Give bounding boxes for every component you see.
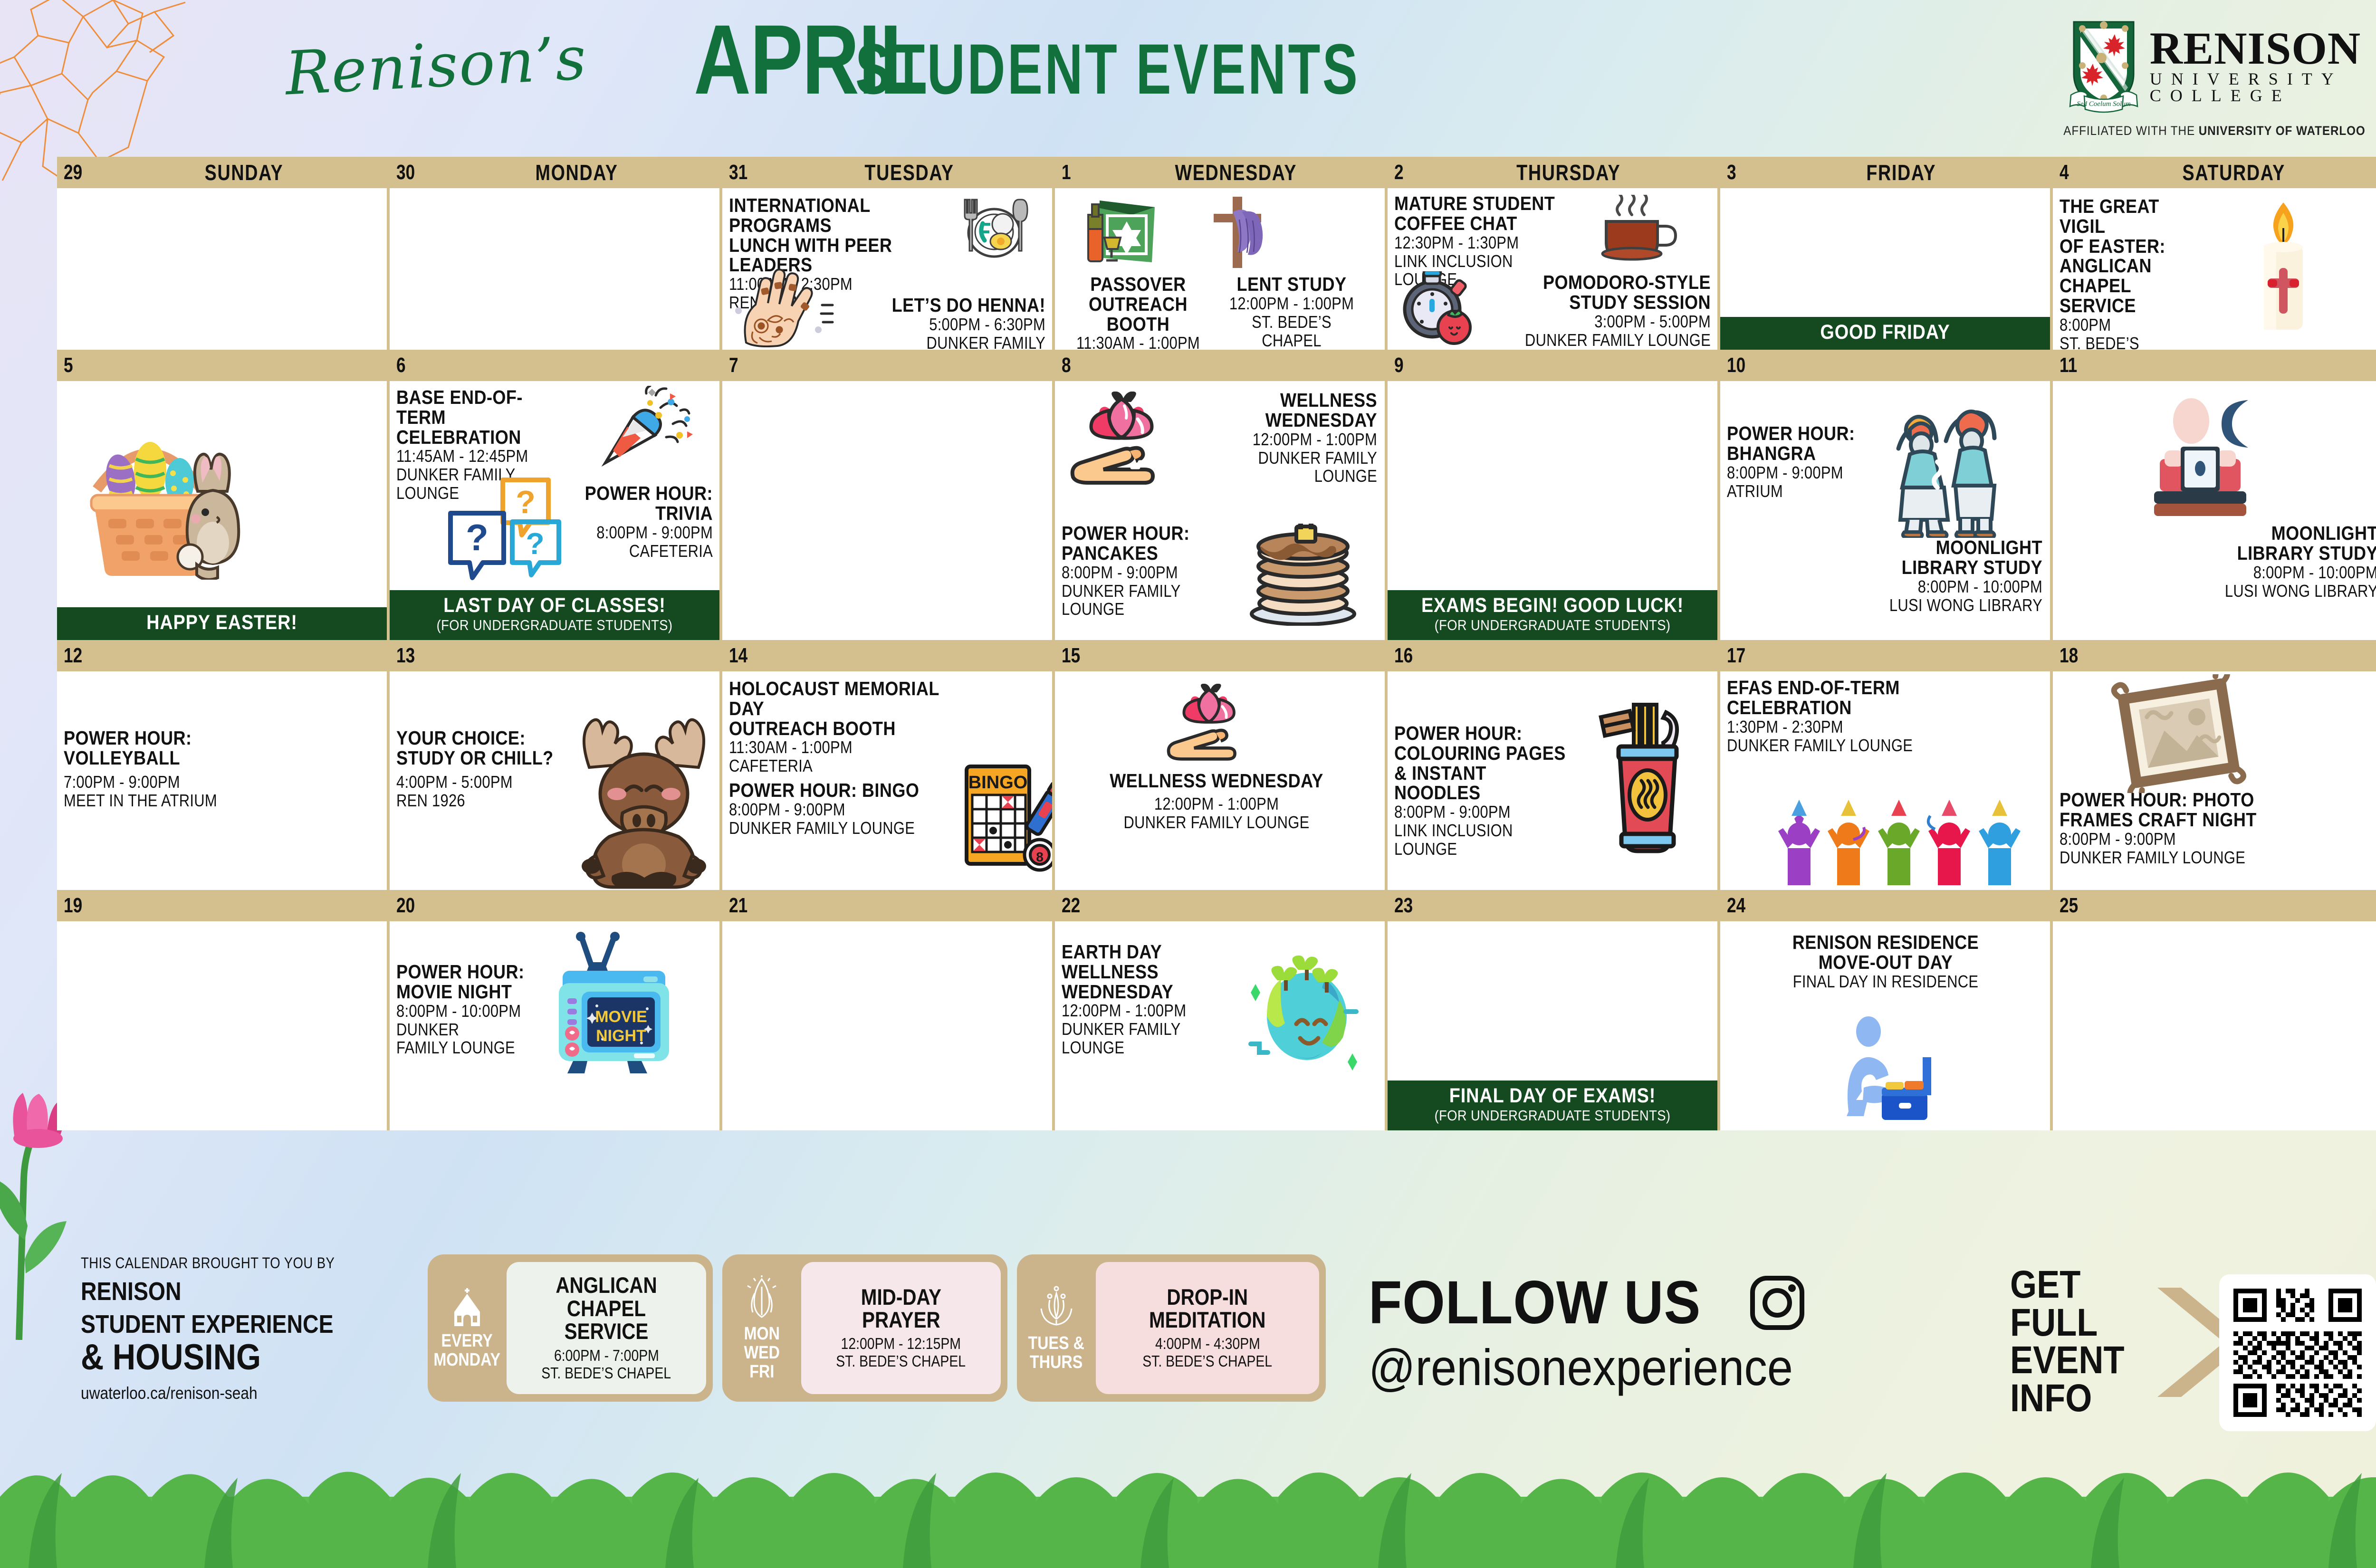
day-header: 11 xyxy=(2053,350,2376,381)
renison-crest-icon: Sed Coelum Solum xyxy=(2068,18,2139,113)
status-banner: EXAMS BEGIN! GOOD LUCK! (FOR UNDERGRADUA… xyxy=(1388,590,1717,640)
day-number: 15 xyxy=(1062,644,1080,668)
day-header: 30MONDAY xyxy=(390,157,722,188)
day-number: 30 xyxy=(396,161,415,184)
event-time: 11:30AM - 1:00PM xyxy=(729,738,946,757)
happy-earth-icon xyxy=(1245,955,1369,1073)
day-cell[interactable]: EXAMS BEGIN! GOOD LUCK! (FOR UNDERGRADUA… xyxy=(1388,381,1720,640)
event-block[interactable]: WELLNESS WEDNESDAY 12:00PM - 1:00PM DUNK… xyxy=(1060,771,1373,832)
event-title: POMODORO-STYLE STUDY SESSION xyxy=(1514,273,1711,313)
day-cell[interactable]: WELLNESS WEDNESDAY 12:00PM - 1:00PM DUNK… xyxy=(1055,671,1388,890)
banner-text: FINAL DAY OF EXAMS! xyxy=(1410,1085,1695,1107)
footer-credit: THIS CALENDAR BROUGHT TO YOU BY RENISON … xyxy=(81,1254,442,1403)
event-block[interactable]: POWER HOUR: PANCAKES 8:00PM - 9:00PM DUN… xyxy=(1062,524,1252,619)
recurring-place: ST. BEDE’S CHAPEL xyxy=(542,1365,671,1382)
day-cell[interactable] xyxy=(722,921,1055,1130)
event-time: 11:45AM - 12:45PM xyxy=(396,447,568,466)
day-header: 6 xyxy=(390,350,722,381)
party-people-icon xyxy=(1777,790,2043,885)
event-place: DUNKER FAMILY LOUNGE xyxy=(1519,331,1711,350)
day-number: 5 xyxy=(64,354,73,377)
day-header: 16 xyxy=(1388,640,1720,671)
day-number: 18 xyxy=(2060,644,2078,668)
page-header: Renison’s APRIL STUDENT EVENTS xyxy=(0,0,2376,157)
day-number: 16 xyxy=(1394,644,1413,668)
event-title: POWER HOUR: COLOURING PAGES & INSTANT NO… xyxy=(1394,724,1570,803)
event-title: POWER HOUR: PHOTO FRAMES CRAFT NIGHT xyxy=(2060,790,2269,830)
recurring-event-card[interactable]: EVERY MONDAY ANGLICAN CHAPEL SERVICE 6:0… xyxy=(428,1254,713,1402)
day-header: 19 xyxy=(57,890,390,921)
event-place: DUNKER FAMILY LOUNGE xyxy=(1062,582,1225,619)
day-cell[interactable]: RENISON RESIDENCE MOVE-OUT DAY FINAL DAY… xyxy=(1720,921,2053,1130)
day-cell[interactable]: HAPPY EASTER! xyxy=(57,381,390,640)
event-title: EARTH DAY WELLNESS WEDNESDAY xyxy=(1062,942,1220,1002)
event-block[interactable]: THE GREAT VIGIL OF EASTER: ANGLICAN CHAP… xyxy=(2060,197,2216,350)
day-number: 29 xyxy=(64,161,82,184)
week-header-row-2: 5 6 7 8 9 10 11 xyxy=(57,350,2376,381)
event-block[interactable]: EARTH DAY WELLNESS WEDNESDAY 12:00PM - 1… xyxy=(1062,942,1242,1057)
day-number: 4 xyxy=(2060,161,2069,184)
event-time: 8:00PM - 9:00PM xyxy=(1394,803,1566,822)
qr-code[interactable] xyxy=(2219,1274,2376,1431)
day-cell[interactable] xyxy=(722,381,1055,640)
day-name: FRIDAY xyxy=(1777,160,2026,185)
instagram-icon[interactable] xyxy=(1749,1275,1805,1331)
packing-box-icon xyxy=(1834,1012,1944,1121)
day-name: MONDAY xyxy=(457,160,696,185)
event-block[interactable]: PASSOVER OUTREACH BOOTH 11:30AM - 1:00PM… xyxy=(1060,275,1217,350)
event-block[interactable]: HOLOCAUST MEMORIAL DAY OUTREACH BOOTH 11… xyxy=(729,679,981,775)
logo-college-line: COLLEGE xyxy=(2150,88,2361,104)
day-number: 7 xyxy=(729,354,738,377)
event-block[interactable]: WELLNESS WEDNESDAY 12:00PM - 1:00PM DUNK… xyxy=(1187,391,1377,486)
status-banner: LAST DAY OF CLASSES! (FOR UNDERGRADUATE … xyxy=(390,590,719,640)
logo-wordmark: RENISON xyxy=(2150,28,2361,69)
pomodoro-timer-icon xyxy=(1396,271,1477,345)
day-cell[interactable]: YOUR CHOICE: STUDY OR CHILL? 4:00PM - 5:… xyxy=(390,671,722,890)
recurring-event-card[interactable]: MON WED FRI MID-DAY PRAYER 12:00PM - 12:… xyxy=(722,1254,1007,1402)
day-cell[interactable] xyxy=(390,188,722,350)
day-number: 6 xyxy=(396,354,406,377)
day-number: 31 xyxy=(729,161,747,184)
event-time: FINAL DAY IN RESIDENCE xyxy=(1747,973,2025,991)
recurring-when: EVERY MONDAY xyxy=(428,1254,507,1402)
grass-decor xyxy=(0,1425,2376,1568)
event-place: REN 1926 xyxy=(396,792,572,810)
page-title: APRIL STUDENT EVENTS xyxy=(694,10,1537,109)
day-header: 22 xyxy=(1055,890,1388,921)
event-place: LINK INCLUSION LOUNGE xyxy=(1394,822,1566,859)
event-place: DUNKER FAMILY LOUNGE xyxy=(396,1021,531,1058)
day-cell[interactable]: PASSOVER OUTREACH BOOTH 11:30AM - 1:00PM… xyxy=(1055,188,1388,350)
easter-basket-bunny-icon xyxy=(68,390,249,580)
banner-subtext: (FOR UNDERGRADUATE STUDENTS) xyxy=(1410,617,1695,633)
day-number: 1 xyxy=(1062,161,1071,184)
day-cell[interactable]: EARTH DAY WELLNESS WEDNESDAY 12:00PM - 1… xyxy=(1055,921,1388,1130)
event-place: DUNKER FAMILY LOUNGE xyxy=(1727,736,1931,755)
day-cell[interactable]: POWER HOUR: COLOURING PAGES & INSTANT NO… xyxy=(1388,671,1720,890)
day-header: 21 xyxy=(722,890,1055,921)
qr-code-image xyxy=(2229,1284,2366,1422)
event-title: YOUR CHOICE: STUDY OR CHILL? xyxy=(396,728,576,768)
recurring-when: MON WED FRI xyxy=(722,1254,801,1402)
day-header: 8 xyxy=(1055,350,1388,381)
event-block[interactable]: LET’S DO HENNA! 5:00PM - 6:30PM DUNKER F… xyxy=(865,296,1045,350)
event-title: MOONLIGHT LIBRARY STUDY xyxy=(1867,538,2042,578)
day-cell[interactable]: MATURE STUDENT COFFEE CHAT 12:30PM - 1:3… xyxy=(1388,188,1720,350)
day-header: 12 xyxy=(57,640,390,671)
day-header: 7 xyxy=(722,350,1055,381)
day-cell[interactable]: MOONLIGHT LIBRARY STUDY 8:00PM - 10:00PM… xyxy=(2053,381,2376,640)
day-header: 29SUNDAY xyxy=(57,157,390,188)
event-place: DUNKER FAMILY LOUNGE xyxy=(729,819,921,838)
day-number: 12 xyxy=(64,644,82,668)
credit-org-2: STUDENT EXPERIENCE xyxy=(81,1311,392,1338)
event-block[interactable]: EFAS END-OF-TERM CELEBRATION 1:30PM - 2:… xyxy=(1727,678,1964,755)
recurring-time: 6:00PM - 7:00PM xyxy=(554,1347,659,1365)
day-header: 5 xyxy=(57,350,390,381)
event-title: POWER HOUR: BHANGRA xyxy=(1727,424,1873,464)
event-place: DUNKER FAMILY LOUNGE xyxy=(1214,449,1377,486)
event-title: BASE END-OF-TERM CELEBRATION xyxy=(396,388,572,447)
day-cell[interactable] xyxy=(57,188,390,350)
banner-text: EXAMS BEGIN! GOOD LUCK! xyxy=(1410,595,1695,616)
event-place: LUSI WONG LIBRARY xyxy=(1871,596,2042,615)
day-cell[interactable] xyxy=(57,921,390,1130)
event-time: 7:00PM - 9:00PM xyxy=(64,773,235,792)
day-header: 9 xyxy=(1388,350,1720,381)
status-banner: HAPPY EASTER! xyxy=(57,607,387,640)
logo-affiliation: AFFILIATED WITH THE UNIVERSITY OF WATERL… xyxy=(2063,124,2365,138)
week-row-2: HAPPY EASTER! BASE END-OF-TERM CELEBRATI… xyxy=(57,381,2376,640)
passover-icon xyxy=(1075,194,1160,270)
day-header: 3FRIDAY xyxy=(1720,157,2053,188)
event-title: HOLOCAUST MEMORIAL DAY OUTREACH BOOTH xyxy=(729,679,950,738)
recurring-details: DROP-IN MEDITATION 4:00PM - 4:30PM ST. B… xyxy=(1096,1262,1319,1394)
henna-hand-icon xyxy=(732,259,851,347)
day-header: 10 xyxy=(1720,350,2053,381)
event-time: 8:00PM - 9:00PM xyxy=(1062,564,1225,582)
event-time: 12:00PM - 1:00PM xyxy=(1226,295,1357,313)
banner-subtext: (FOR UNDERGRADUATE STUDENTS) xyxy=(412,617,697,633)
day-header: 4SATURDAY xyxy=(2053,157,2376,188)
event-place: CAFETERIA xyxy=(565,542,713,561)
event-time: 8:00PM xyxy=(2060,316,2194,335)
follow-us-label: FOLLOW US xyxy=(1369,1272,1701,1333)
event-block[interactable]: POMODORO-STYLE STUDY SESSION 3:00PM - 5:… xyxy=(1487,273,1711,349)
event-title: LET’S DO HENNA! xyxy=(887,296,1045,316)
week-row-1: INTERNATIONAL PROGRAMS LUNCH WITH PEER L… xyxy=(57,188,2376,350)
event-title: PASSOVER OUTREACH BOOTH xyxy=(1069,275,1207,334)
recurring-title: ANGLICAN CHAPEL SERVICE xyxy=(556,1274,657,1343)
event-title: LENT STUDY xyxy=(1225,275,1359,295)
night-study-desk-icon xyxy=(2141,393,2279,526)
day-number: 13 xyxy=(396,644,415,668)
day-number: 20 xyxy=(396,894,415,918)
event-block[interactable]: POWER HOUR: BHANGRA 8:00PM - 9:00PM ATRI… xyxy=(1727,424,1893,500)
day-cell[interactable]: POWER HOUR: VOLLEYBALL 7:00PM - 9:00PM M… xyxy=(57,671,390,890)
event-time: 3:00PM - 5:00PM xyxy=(1519,313,1711,331)
coffee-cup-icon xyxy=(1592,195,1687,266)
day-header: 23 xyxy=(1388,890,1720,921)
follow-us-block: FOLLOW US @renisonexperience xyxy=(1369,1272,1840,1393)
day-cell[interactable]: POWER HOUR: BHANGRA 8:00PM - 9:00PM ATRI… xyxy=(1720,381,2053,640)
day-header: 14 xyxy=(722,640,1055,671)
event-place: ST. BEDE’S CHAPEL xyxy=(1226,313,1357,350)
week-row-3: POWER HOUR: VOLLEYBALL 7:00PM - 9:00PM M… xyxy=(57,671,2376,890)
svg-text:MOVIE: MOVIE xyxy=(595,1008,647,1026)
event-place: CAFETERIA xyxy=(729,757,946,775)
day-number: 17 xyxy=(1727,644,1745,668)
day-name: SUNDAY xyxy=(125,160,364,185)
day-cell[interactable]: POWER HOUR: MOVIE NIGHT 8:00PM - 10:00PM… xyxy=(390,921,722,1130)
week-row-4: POWER HOUR: MOVIE NIGHT 8:00PM - 10:00PM… xyxy=(57,921,2376,1130)
event-block[interactable]: POWER HOUR: VOLLEYBALL 7:00PM - 9:00PM M… xyxy=(64,728,263,810)
event-time: 5:00PM - 6:30PM xyxy=(890,316,1045,334)
recurring-time: 4:00PM - 4:30PM xyxy=(1155,1335,1260,1353)
photo-frame-icon xyxy=(2110,674,2248,793)
day-cell[interactable]: THE GREAT VIGIL OF EASTER: ANGLICAN CHAP… xyxy=(2053,188,2376,350)
event-place: ST. BEDE’S CHAPEL xyxy=(2060,335,2194,350)
event-block[interactable]: POWER HOUR: BINGO 8:00PM - 9:00PM DUNKER… xyxy=(729,781,952,838)
event-title: POWER HOUR: MOVIE NIGHT xyxy=(396,962,534,1002)
page-footer: THIS CALENDAR BROUGHT TO YOU BY RENISON … xyxy=(0,1245,2376,1435)
day-number: 14 xyxy=(729,644,747,668)
event-title: EFAS END-OF-TERM CELEBRATION xyxy=(1727,678,1936,718)
party-popper-icon xyxy=(599,386,694,469)
svg-text:Sed Coelum Solum: Sed Coelum Solum xyxy=(2077,100,2130,108)
svg-text:?: ? xyxy=(516,484,536,520)
event-block[interactable]: MOONLIGHT LIBRARY STUDY 8:00PM - 10:00PM… xyxy=(2174,524,2376,600)
lotus-hand-icon xyxy=(1164,684,1255,762)
retro-tv-icon: MOVIE NIGHT xyxy=(546,931,684,1073)
get-info-label: GET FULL EVENT INFO xyxy=(2010,1266,2125,1417)
logo-university-line: UNIVERSITY xyxy=(2150,71,2361,87)
svg-text:8: 8 xyxy=(1036,850,1044,864)
day-header: 15 xyxy=(1055,640,1388,671)
day-header: 20 xyxy=(390,890,722,921)
event-title: POWER HOUR: TRIVIA xyxy=(562,484,713,524)
day-name: WEDNESDAY xyxy=(1112,160,1360,185)
paschal-candle-icon xyxy=(2243,198,2324,340)
event-time: 8:00PM - 10:00PM xyxy=(2202,564,2376,582)
event-block[interactable]: RENISON RESIDENCE MOVE-OUT DAY FINAL DAY… xyxy=(1724,933,2047,991)
event-title: MATURE STUDENT COFFEE CHAT xyxy=(1394,194,1562,234)
event-time: 8:00PM - 9:00PM xyxy=(729,801,921,819)
day-header: 1WEDNESDAY xyxy=(1055,157,1388,188)
day-number: 2 xyxy=(1394,161,1404,184)
event-time: 1:30PM - 2:30PM xyxy=(1727,718,1931,736)
day-number: 11 xyxy=(2060,354,2077,377)
event-time: 8:00PM - 10:00PM xyxy=(1871,578,2042,596)
day-cell[interactable]: WELLNESS WEDNESDAY 12:00PM - 1:00PM DUNK… xyxy=(1055,381,1388,640)
church-icon xyxy=(449,1286,486,1327)
event-time: 8:00PM - 10:00PM xyxy=(396,1002,531,1021)
pancakes-icon xyxy=(1245,524,1364,626)
day-number: 9 xyxy=(1394,354,1404,377)
day-cell[interactable]: HOLOCAUST MEMORIAL DAY OUTREACH BOOTH 11… xyxy=(722,671,1055,890)
lotus-hand-icon xyxy=(1067,392,1177,487)
event-time: 8:00PM - 9:00PM xyxy=(565,524,713,542)
title-subject: STUDENT EVENTS xyxy=(855,33,1360,105)
day-header: 24 xyxy=(1720,890,2053,921)
event-block[interactable]: MOONLIGHT LIBRARY STUDY 8:00PM - 10:00PM… xyxy=(1843,538,2042,614)
event-block[interactable]: POWER HOUR: TRIVIA 8:00PM - 9:00PM CAFET… xyxy=(542,484,713,560)
recurring-time: 12:00PM - 12:15PM xyxy=(841,1335,961,1353)
bingo-card-icon: BINGO 8 xyxy=(960,762,1055,873)
event-title: RENISON RESIDENCE MOVE-OUT DAY xyxy=(1744,933,2028,973)
status-banner: GOOD FRIDAY xyxy=(1720,317,2050,350)
event-place: LUSI WONG LIBRARY xyxy=(2202,582,2376,601)
event-place: MEET IN THE ATRIUM xyxy=(64,792,235,810)
day-number: 25 xyxy=(2060,894,2078,918)
day-cell[interactable]: INTERNATIONAL PROGRAMS LUNCH WITH PEER L… xyxy=(722,188,1055,350)
lent-cross-icon xyxy=(1193,195,1283,271)
week-header-row-4: 19 20 21 22 23 24 25 xyxy=(57,890,2376,921)
calendar-page: Renison’s APRIL STUDENT EVENTS xyxy=(0,0,2376,1568)
day-number: 21 xyxy=(729,894,747,918)
recurring-when-text: EVERY MONDAY xyxy=(434,1332,501,1370)
svg-text:NIGHT: NIGHT xyxy=(596,1027,646,1045)
recurring-title: MID-DAY PRAYER xyxy=(861,1286,941,1332)
credit-org-1: RENISON xyxy=(81,1279,392,1305)
banner-text: GOOD FRIDAY xyxy=(1743,322,2028,343)
day-cell[interactable] xyxy=(2053,921,2376,1130)
event-title: THE GREAT VIGIL OF EASTER: ANGLICAN CHAP… xyxy=(2060,197,2197,316)
event-time: 12:30PM - 1:30PM xyxy=(1394,234,1558,252)
recurring-place: ST. BEDE’S CHAPEL xyxy=(1143,1353,1273,1370)
day-name: THURSDAY xyxy=(1445,160,1693,185)
day-cell[interactable]: POWER HOUR: PHOTO FRAMES CRAFT NIGHT 8:0… xyxy=(2053,671,2376,890)
day-header: 17 xyxy=(1720,640,2053,671)
recurring-event-card[interactable]: TUES & THURS DROP-IN MEDITATION 4:00PM -… xyxy=(1017,1254,1326,1402)
event-place: DUNKER FAMILY LOUNGE xyxy=(890,334,1045,350)
event-time: 12:00PM - 1:00PM xyxy=(1214,430,1377,449)
event-time: 4:00PM - 5:00PM xyxy=(396,773,572,792)
instant-noodles-icon xyxy=(1597,700,1696,857)
day-number: 24 xyxy=(1727,894,1745,918)
day-header: 2THURSDAY xyxy=(1388,157,1720,188)
renison-university-logo: Sed Coelum Solum RENISON UNIVERSITY COLL… xyxy=(2034,18,2376,132)
credit-org-3: & HOUSING xyxy=(81,1339,399,1376)
plate-cutlery-icon xyxy=(955,195,1031,266)
meditation-lotus-icon xyxy=(1037,1284,1075,1329)
event-time: 12:00PM - 1:00PM xyxy=(1082,795,1351,813)
event-title: WELLNESS WEDNESDAY xyxy=(1079,771,1355,791)
calendar-grid: 29SUNDAY 30MONDAY 31TUESDAY 1WEDNESDAY 2… xyxy=(57,157,2376,1130)
svg-text:?: ? xyxy=(466,516,489,558)
event-place: DUNKER FAMILY LOUNGE xyxy=(1082,813,1351,832)
recurring-when-text: TUES & THURS xyxy=(1028,1334,1084,1372)
recurring-when-text: MON WED FRI xyxy=(744,1325,779,1382)
meditating-moose-icon xyxy=(565,714,722,890)
event-place: ATRIUM xyxy=(1727,482,1870,501)
event-block[interactable]: POWER HOUR: PHOTO FRAMES CRAFT NIGHT 8:0… xyxy=(2060,790,2297,867)
event-time: 8:00PM - 9:00PM xyxy=(1727,464,1870,482)
day-number: 8 xyxy=(1062,354,1071,377)
banner-subtext: (FOR UNDERGRADUATE STUDENTS) xyxy=(1410,1108,1695,1124)
event-time: 12:00PM - 1:00PM xyxy=(1062,1002,1217,1020)
banner-text: LAST DAY OF CLASSES! xyxy=(412,595,697,616)
affiliation-university: UNIVERSITY OF WATERLOO xyxy=(2199,124,2366,138)
recurring-when: TUES & THURS xyxy=(1017,1254,1096,1402)
event-block[interactable]: POWER HOUR: MOVIE NIGHT 8:00PM - 10:00PM… xyxy=(396,962,553,1057)
day-number: 22 xyxy=(1062,894,1080,918)
day-number: 23 xyxy=(1394,894,1413,918)
day-cell[interactable]: EFAS END-OF-TERM CELEBRATION 1:30PM - 2:… xyxy=(1720,671,2053,890)
event-time: 8:00PM - 9:00PM xyxy=(2060,830,2264,849)
event-block[interactable]: LENT STUDY 12:00PM - 1:00PM ST. BEDE’S C… xyxy=(1216,275,1368,350)
day-header: 25 xyxy=(2053,890,2376,921)
banner-text: HAPPY EASTER! xyxy=(79,612,364,633)
week-header-row-1: 29SUNDAY 30MONDAY 31TUESDAY 1WEDNESDAY 2… xyxy=(57,157,2376,188)
svg-text:BINGO: BINGO xyxy=(968,773,1028,793)
day-header: 18 xyxy=(2053,640,2376,671)
recurring-place: ST. BEDE’S CHAPEL xyxy=(836,1353,966,1370)
day-cell[interactable]: GOOD FRIDAY xyxy=(1720,188,2053,350)
renison-script-logo: Renison’s xyxy=(284,23,589,108)
event-place: DUNKER FAMILY LOUNGE xyxy=(2060,849,2264,867)
day-header: 13 xyxy=(390,640,722,671)
event-title: POWER HOUR: VOLLEYBALL xyxy=(64,728,240,768)
day-header: 31TUESDAY xyxy=(722,157,1055,188)
event-title: MOONLIGHT LIBRARY STUDY xyxy=(2198,524,2376,564)
day-name: SATURDAY xyxy=(2110,160,2358,185)
day-cell[interactable]: BASE END-OF-TERM CELEBRATION 11:45AM - 1… xyxy=(390,381,722,640)
event-time: 11:30AM - 1:00PM xyxy=(1071,334,1206,350)
day-number: 19 xyxy=(64,894,82,918)
event-block[interactable]: POWER HOUR: COLOURING PAGES & INSTANT NO… xyxy=(1394,724,1594,859)
day-number: 10 xyxy=(1727,354,1745,377)
recurring-details: ANGLICAN CHAPEL SERVICE 6:00PM - 7:00PM … xyxy=(507,1262,706,1394)
affiliation-prefix: AFFILIATED WITH THE xyxy=(2063,124,2198,138)
praying-hands-icon xyxy=(744,1274,779,1320)
week-header-row-3: 12 13 14 15 16 17 18 xyxy=(57,640,2376,671)
status-banner: FINAL DAY OF EXAMS! (FOR UNDERGRADUATE S… xyxy=(1388,1080,1717,1130)
day-cell[interactable]: FINAL DAY OF EXAMS! (FOR UNDERGRADUATE S… xyxy=(1388,921,1720,1130)
instagram-handle[interactable]: @renisonexperience xyxy=(1369,1342,1793,1393)
event-title: POWER HOUR: PANCAKES xyxy=(1062,524,1229,564)
event-place: DUNKER FAMILY LOUNGE xyxy=(1062,1020,1217,1057)
credit-website[interactable]: uwaterloo.ca/renison-seah xyxy=(81,1383,399,1403)
event-title: POWER HOUR: BINGO xyxy=(729,781,926,801)
day-number: 3 xyxy=(1727,161,1736,184)
recurring-title: DROP-IN MEDITATION xyxy=(1149,1286,1265,1332)
bhangra-dancers-icon xyxy=(1889,395,2017,538)
recurring-details: MID-DAY PRAYER 12:00PM - 12:15PM ST. BED… xyxy=(801,1262,1001,1394)
credit-intro: THIS CALENDAR BROUGHT TO YOU BY xyxy=(81,1254,392,1272)
event-title: WELLNESS WEDNESDAY xyxy=(1210,391,1377,430)
day-name: TUESDAY xyxy=(790,160,1029,185)
